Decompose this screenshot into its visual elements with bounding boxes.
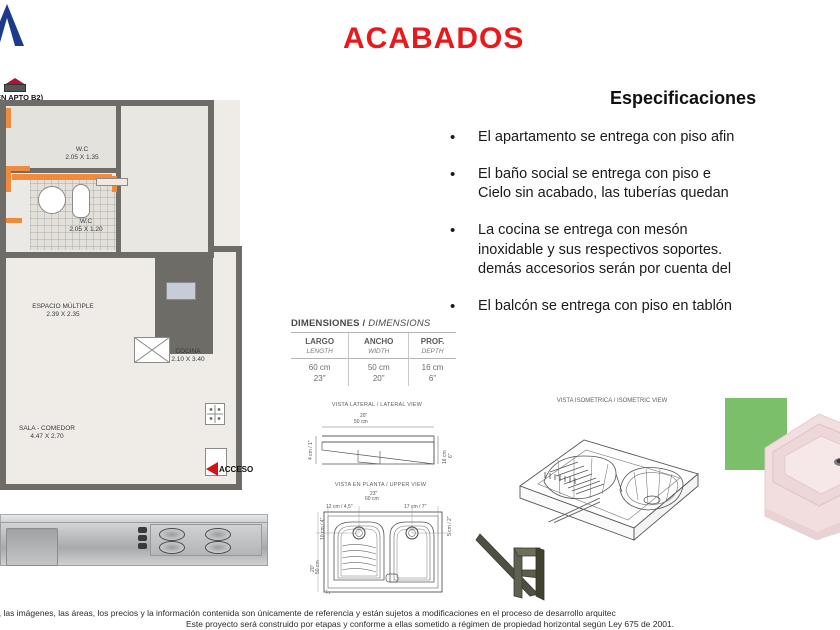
room-label-wc1: W.C 2.05 X 1.35 <box>42 146 122 162</box>
isometric-view-caption: VISTA ISOMETRICA / ISOMETRIC VIEW <box>512 398 712 404</box>
room-label-wc2: W.C 2.05 X 1.20 <box>46 218 126 234</box>
spec-line: El balcón se entrega con piso en tablón <box>478 297 840 316</box>
bullet-icon: • <box>450 128 455 148</box>
slide-canvas: ciudad ndez n Vivir EN APTO B2) ACABADOS <box>0 0 840 630</box>
room-label-espacio-multiple: ESPACIO MÚLTIPLE 2.39 X 2.35 <box>8 303 118 319</box>
stove-icon <box>205 403 225 425</box>
upper-view-drawing <box>308 502 453 598</box>
kitchen-cross-icon <box>134 337 170 363</box>
col-header-ancho: ANCHO <box>349 333 409 348</box>
value-ancho-cm: 50 cm <box>349 359 409 374</box>
bracket-icon <box>470 522 554 604</box>
lateral-view-drawing <box>302 414 452 472</box>
list-item: • El baño social se entrega con piso e C… <box>478 165 840 203</box>
bracket-photo <box>470 522 554 604</box>
sink-photo-drawing <box>763 412 840 540</box>
room-label-sala-comedor: SALA - COMEDOR 4.47 X 2.70 <box>2 425 92 441</box>
spec-line: La cocina se entrega con mesón <box>478 221 840 240</box>
spec-line: El baño social se entrega con piso e <box>478 165 840 184</box>
page-title: ACABADOS <box>343 22 524 56</box>
bullet-icon: • <box>450 165 455 185</box>
spec-line: demás accesorios serán por cuenta del <box>478 260 840 279</box>
technical-lateral-view: VISTA LATERAL / LATERAL VIEW 20" 50 cm 4… <box>302 402 452 472</box>
bullet-icon: • <box>450 297 455 317</box>
dimensions-block: DIMENSIONES / DIMENSIONS LARGO ANCHO PRO… <box>291 318 456 386</box>
value-largo-cm: 60 cm <box>291 359 349 374</box>
lateral-view-caption: VISTA LATERAL / LATERAL VIEW <box>302 402 452 408</box>
table-row-imperial: 23" 20" 6" <box>291 373 456 386</box>
value-largo-in: 23" <box>291 373 349 386</box>
countertop-photo <box>0 508 268 590</box>
upper-view-caption: VISTA EN PLANTA / UPPER VIEW <box>308 482 453 488</box>
list-item: • El apartamento se entrega con piso afi… <box>478 128 840 147</box>
col-header-largo: LARGO <box>291 333 349 348</box>
bullet-icon: • <box>450 221 455 241</box>
table-row-header-en: LENGTH WIDTH DEPTH <box>291 347 456 359</box>
value-prof-cm: 16 cm <box>409 359 456 374</box>
footer-disclaimer: o, las imágenes, las áreas, los precios … <box>0 608 840 629</box>
table-row-header-es: LARGO ANCHO PROF. <box>291 333 456 348</box>
dimensions-title: DIMENSIONES / DIMENSIONS <box>291 318 456 329</box>
company-logo: ciudad ndez n Vivir <box>0 4 88 70</box>
cooktop-knobs <box>138 527 148 553</box>
pink-sink-photo <box>725 398 840 540</box>
dimensions-table: LARGO ANCHO PROF. LENGTH WIDTH DEPTH 60 … <box>291 332 456 386</box>
spec-line: El apartamento se entrega con piso afin <box>478 128 840 147</box>
value-ancho-in: 20" <box>349 373 409 386</box>
footer-line-1: o, las imágenes, las áreas, los precios … <box>0 608 840 618</box>
house-icon <box>2 78 28 92</box>
table-row-metric: 60 cm 50 cm 16 cm <box>291 359 456 374</box>
list-item: • El balcón se entrega con piso en tabló… <box>478 297 840 316</box>
col-header-length: LENGTH <box>291 347 349 359</box>
cooktop <box>150 524 262 556</box>
footer-line-2: Este proyecto será construido por etapas… <box>0 619 840 629</box>
floor-plan: W.C 2.05 X 1.35 W.C 2.05 X 1.20 ESPACIO … <box>0 100 240 490</box>
specs-list: • El apartamento se entrega con piso afi… <box>478 128 840 334</box>
list-item: • La cocina se entrega con mesón inoxida… <box>478 221 840 278</box>
col-header-prof: PROF. <box>409 333 456 348</box>
acceso-arrow-icon <box>206 462 218 476</box>
spec-line: Cielo sin acabado, las tuberías quedan <box>478 184 840 203</box>
specs-heading: Especificaciones <box>610 88 756 109</box>
logo-mark-icon <box>0 4 24 46</box>
value-prof-in: 6" <box>409 373 456 386</box>
col-header-width: WIDTH <box>349 347 409 359</box>
technical-upper-view: VISTA EN PLANTA / UPPER VIEW 23" 60 cm 1… <box>308 482 453 600</box>
acceso-label: ACCESO <box>219 465 253 474</box>
col-header-depth: DEPTH <box>409 347 456 359</box>
spec-line: inoxidable y sus respectivos soportes. <box>478 241 840 260</box>
